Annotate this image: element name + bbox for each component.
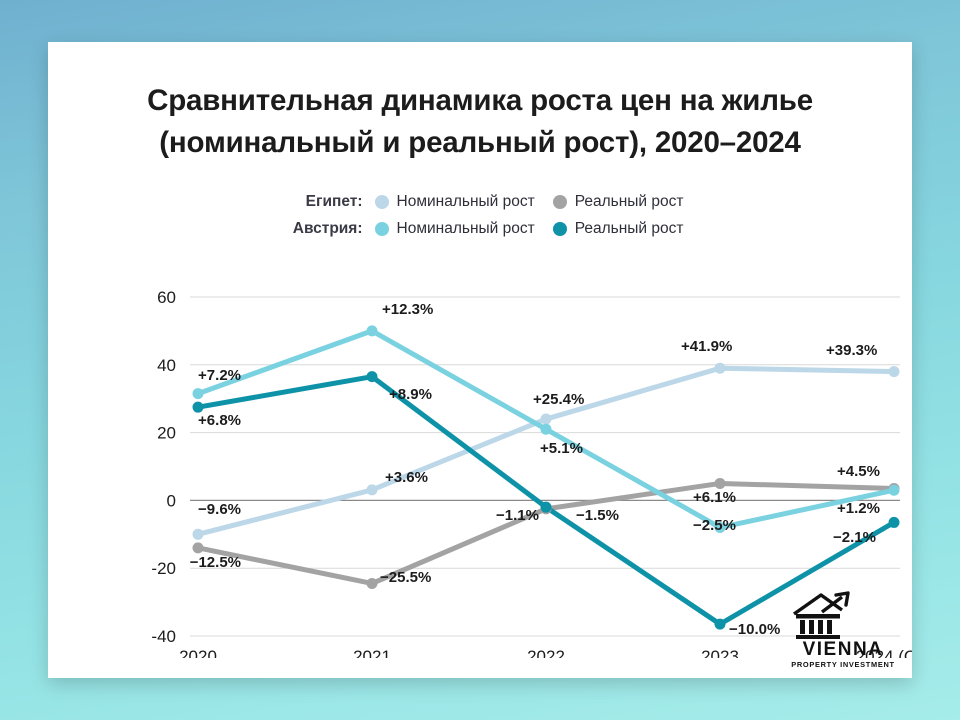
legend-group-label-egypt: Египет: [277, 193, 375, 211]
data-point-label: +1.2% [837, 500, 880, 517]
y-axis-tick-label: 0 [167, 491, 176, 510]
legend-label-egypt-nominal: Номинальный рост [397, 193, 535, 211]
bank-building-arrow-icon [784, 588, 858, 640]
chart-y-axis-labels: -40-200204060 [151, 288, 176, 646]
chart-plot-area: -40-200204060 +7.2%+6.8%−9.6%−12.5%+12.3… [48, 238, 912, 658]
data-point-label: −1.5% [576, 507, 619, 524]
data-point-label: +7.2% [198, 367, 241, 384]
chart-data-labels: +7.2%+6.8%−9.6%−12.5%+12.3%+8.9%+3.6%−25… [190, 301, 880, 638]
data-point-label: +6.8% [198, 412, 241, 429]
data-point-label: +41.9% [681, 338, 732, 355]
y-axis-tick-label: -20 [151, 559, 176, 578]
data-point[interactable] [541, 424, 552, 435]
brand-tagline: PROPERTY INVESTMENT [784, 660, 902, 670]
data-point[interactable] [193, 388, 204, 399]
data-point[interactable] [541, 414, 552, 425]
legend-swatch-austria-nominal [375, 222, 389, 236]
x-axis-tick-label: 2023 [701, 647, 739, 658]
data-point-label: +5.1% [540, 440, 583, 457]
data-point[interactable] [889, 485, 900, 496]
data-point-label: +25.4% [533, 391, 584, 408]
legend-item-egypt-real[interactable]: Реальный рост [553, 193, 684, 211]
legend-swatch-austria-real [553, 222, 567, 236]
y-axis-tick-label: 40 [157, 356, 176, 375]
data-point[interactable] [367, 371, 378, 382]
data-point-label: +4.5% [837, 463, 880, 480]
data-point-label: −10.0% [729, 621, 780, 638]
data-point-label: +12.3% [382, 301, 433, 318]
chart-gridlines [190, 297, 900, 636]
data-point[interactable] [367, 578, 378, 589]
data-point-label: −9.6% [198, 501, 241, 518]
data-point-label: +8.9% [389, 386, 432, 403]
legend-label-egypt-real: Реальный рост [575, 193, 684, 211]
legend-swatch-egypt-nominal [375, 195, 389, 209]
y-axis-tick-label: -40 [151, 627, 176, 646]
legend-label-austria-real: Реальный рост [575, 220, 684, 238]
data-point[interactable] [889, 517, 900, 528]
brand-name: VIENNA [784, 640, 902, 660]
legend-item-austria-real[interactable]: Реальный рост [553, 220, 684, 238]
chart-legend: Египет: Номинальный рост Реальный рост А… [48, 188, 912, 242]
data-point[interactable] [367, 484, 378, 495]
x-axis-tick-label: 2021 [353, 647, 391, 658]
data-point-label: −1.1% [496, 507, 539, 524]
data-point-label: −25.5% [380, 569, 431, 586]
data-point[interactable] [367, 325, 378, 336]
slide-card: Сравнительная динамика роста цен на жиль… [48, 42, 912, 678]
legend-label-austria-nominal: Номинальный рост [397, 220, 535, 238]
data-point[interactable] [193, 529, 204, 540]
data-point-label: −12.5% [190, 554, 241, 571]
page-title-line-2: (номинальный и реальный рост), 2020–2024 [48, 122, 912, 164]
data-point-label: +6.1% [693, 489, 736, 506]
legend-item-egypt-nominal[interactable]: Номинальный рост [375, 193, 535, 211]
page-title: Сравнительная динамика роста цен на жиль… [48, 80, 912, 164]
data-point[interactable] [193, 542, 204, 553]
data-point-label: −2.5% [693, 517, 736, 534]
x-axis-tick-label: 2020 [179, 647, 217, 658]
y-axis-tick-label: 20 [157, 424, 176, 443]
chart-series-lines [198, 331, 894, 624]
brand-logo: VIENNA PROPERTY INVESTMENT [784, 588, 902, 670]
y-axis-tick-label: 60 [157, 288, 176, 307]
data-point[interactable] [715, 363, 726, 374]
x-axis-tick-label: 2022 [527, 647, 565, 658]
legend-item-austria-nominal[interactable]: Номинальный рост [375, 220, 535, 238]
data-point-label: −2.1% [833, 529, 876, 546]
data-point-label: +3.6% [385, 469, 428, 486]
data-point-label: +39.3% [826, 342, 877, 359]
data-point[interactable] [541, 502, 552, 513]
legend-swatch-egypt-real [553, 195, 567, 209]
page-title-line-1: Сравнительная динамика роста цен на жиль… [48, 80, 912, 122]
data-point[interactable] [715, 478, 726, 489]
data-point[interactable] [889, 366, 900, 377]
data-point[interactable] [715, 619, 726, 630]
line-chart: -40-200204060 +7.2%+6.8%−9.6%−12.5%+12.3… [48, 238, 912, 658]
legend-group-label-austria: Австрия: [277, 220, 375, 238]
legend-row-egypt: Египет: Номинальный рост Реальный рост [48, 188, 912, 215]
